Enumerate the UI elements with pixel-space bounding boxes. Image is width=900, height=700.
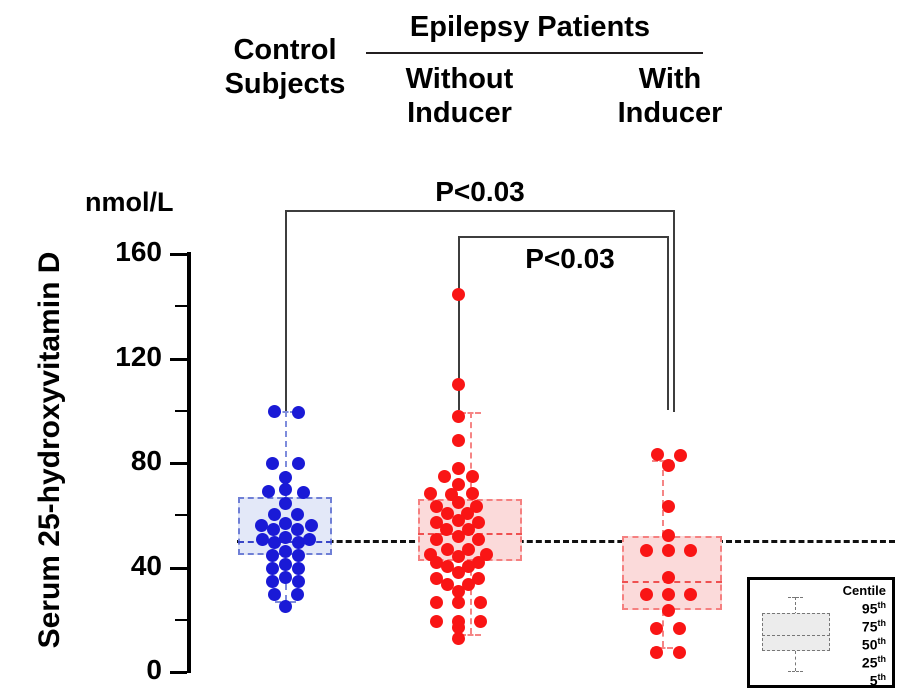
- data-point: [266, 562, 279, 575]
- data-point: [662, 571, 675, 584]
- data-point: [424, 487, 437, 500]
- p-value-label-1: P<0.03: [330, 176, 630, 208]
- legend-item-25-suffix: th: [878, 654, 887, 664]
- data-point: [650, 622, 663, 635]
- data-point: [474, 615, 487, 628]
- y-tick-120: [170, 358, 187, 361]
- data-point: [452, 378, 465, 391]
- column-header-with-line1: With: [590, 62, 750, 96]
- y-tick-minor-140: [175, 305, 187, 307]
- data-point: [256, 533, 269, 546]
- data-point: [268, 588, 281, 601]
- data-point: [291, 508, 304, 521]
- data-point: [452, 621, 465, 634]
- legend-item-95-value: 95: [862, 601, 878, 617]
- data-point: [279, 558, 292, 571]
- data-point: [452, 530, 465, 543]
- data-point: [474, 596, 487, 609]
- column-header-without-line2: Inducer: [372, 96, 547, 130]
- y-axis-unit-label: nmol/L: [85, 187, 174, 218]
- y-tick-label-160: 160: [72, 236, 162, 268]
- data-point: [438, 470, 451, 483]
- y-tick-40: [170, 567, 187, 570]
- data-point: [640, 588, 653, 601]
- data-point: [292, 406, 305, 419]
- reference-line-50: [237, 540, 895, 543]
- data-point: [466, 487, 479, 500]
- data-point: [292, 562, 305, 575]
- data-point: [684, 588, 697, 601]
- legend-item-25-value: 25: [862, 655, 878, 671]
- data-point: [673, 622, 686, 635]
- header-divider-rule: [366, 52, 703, 54]
- data-point: [650, 646, 663, 659]
- data-point: [268, 405, 281, 418]
- y-tick-label-40: 40: [72, 550, 162, 582]
- data-point: [430, 615, 443, 628]
- whisker-upper-without: [470, 412, 472, 499]
- legend-item-50: 50th: [862, 636, 886, 653]
- data-point: [662, 588, 675, 601]
- legend-item-75-value: 75: [862, 619, 878, 635]
- data-point: [266, 457, 279, 470]
- data-point: [651, 448, 664, 461]
- data-point: [291, 588, 304, 601]
- data-point: [640, 544, 653, 557]
- data-point: [305, 519, 318, 532]
- legend-item-25: 25th: [862, 654, 886, 671]
- legend-item-95-suffix: th: [878, 600, 887, 610]
- legend-title: Centile: [843, 583, 886, 598]
- y-tick-160: [170, 253, 187, 256]
- legend-item-75-suffix: th: [878, 618, 887, 628]
- data-point: [430, 533, 443, 546]
- data-point: [472, 533, 485, 546]
- column-header-without-inducer: Without Inducer: [372, 62, 547, 130]
- y-tick-minor-60: [175, 514, 187, 516]
- data-point: [266, 575, 279, 588]
- y-tick-minor-100: [175, 410, 187, 412]
- data-point: [279, 545, 292, 558]
- legend-median-line: [762, 635, 830, 636]
- data-point: [662, 500, 675, 513]
- data-point: [279, 571, 292, 584]
- legend-item-50-value: 50: [862, 637, 878, 653]
- legend-item-95: 95th: [862, 600, 886, 617]
- data-point: [292, 457, 305, 470]
- column-header-control: Control Subjects: [205, 33, 365, 101]
- data-point: [452, 566, 465, 579]
- legend-item-5-suffix: th: [878, 672, 887, 682]
- legend-box: Centile 95th 75th 50th 25th 5th: [747, 577, 895, 688]
- data-point: [292, 575, 305, 588]
- data-point: [266, 549, 279, 562]
- p-value-label-2: P<0.03: [440, 243, 700, 275]
- data-point: [267, 523, 280, 536]
- column-header-control-line1: Control: [205, 33, 365, 67]
- data-point: [662, 604, 675, 617]
- data-point: [297, 486, 310, 499]
- legend-item-50-suffix: th: [878, 636, 887, 646]
- data-point: [452, 288, 465, 301]
- column-header-with-line2: Inducer: [590, 96, 750, 130]
- data-point: [674, 449, 687, 462]
- legend-whisker-lower: [795, 651, 796, 671]
- y-axis-line: [187, 252, 191, 673]
- data-point: [673, 646, 686, 659]
- legend-item-75: 75th: [862, 618, 886, 635]
- data-point: [452, 410, 465, 423]
- data-point: [662, 544, 675, 557]
- legend-content: Centile 95th 75th 50th 25th 5th: [750, 580, 892, 685]
- figure-canvas: Control Subjects Epilepsy Patients Witho…: [0, 0, 900, 700]
- column-header-without-line1: Without: [372, 62, 547, 96]
- y-tick-0: [170, 671, 187, 674]
- y-tick-minor-20: [175, 619, 187, 621]
- column-header-epilepsy: Epilepsy Patients: [355, 10, 705, 44]
- whisker-upper-with: [662, 460, 664, 536]
- data-point: [662, 529, 675, 542]
- data-point: [292, 549, 305, 562]
- legend-box-shape: [762, 613, 830, 651]
- data-point: [466, 470, 479, 483]
- column-header-control-line2: Subjects: [205, 67, 365, 101]
- data-point: [452, 434, 465, 447]
- y-axis-title: Serum 25-hydroxyvitamin D: [33, 215, 67, 685]
- data-point: [662, 459, 675, 472]
- data-point: [452, 462, 465, 475]
- data-point: [303, 533, 316, 546]
- data-point: [279, 600, 292, 613]
- data-point: [452, 596, 465, 609]
- data-point: [684, 544, 697, 557]
- y-tick-label-80: 80: [72, 445, 162, 477]
- legend-cap-lower: [788, 671, 803, 672]
- data-point: [440, 523, 453, 536]
- y-tick-label-120: 120: [72, 341, 162, 373]
- data-point: [262, 485, 275, 498]
- data-point: [279, 483, 292, 496]
- legend-item-5-value: 5: [870, 673, 878, 689]
- y-tick-label-0: 0: [72, 654, 162, 686]
- column-header-with-inducer: With Inducer: [590, 62, 750, 130]
- data-point: [279, 497, 292, 510]
- data-point: [430, 596, 443, 609]
- legend-item-5: 5th: [870, 672, 886, 689]
- y-tick-80: [170, 462, 187, 465]
- data-point: [291, 523, 304, 536]
- legend-cap-upper: [788, 597, 803, 598]
